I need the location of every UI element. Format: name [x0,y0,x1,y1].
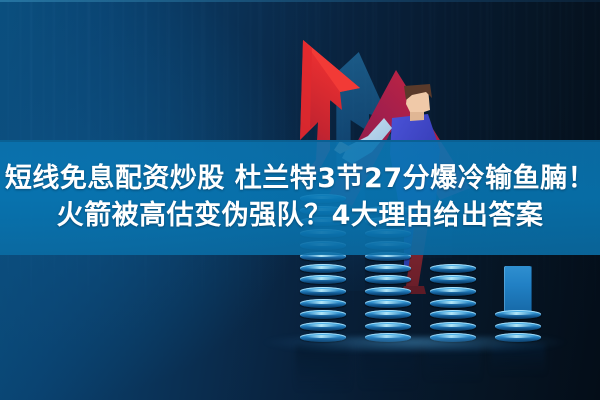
coin [430,275,476,284]
coin [300,264,346,273]
coin [300,299,346,308]
coin [430,287,476,296]
headline-band [0,140,600,255]
coin [300,310,346,319]
coin [365,310,411,319]
coin [430,310,476,319]
coin [365,275,411,284]
coin [430,299,476,308]
headline-band-top-edge [0,140,600,142]
coin [430,264,476,273]
floor-glow [255,336,575,352]
coin-stack-slab [504,266,532,314]
coin [300,275,346,284]
coin [495,322,541,331]
coin [430,322,476,331]
coin [300,322,346,331]
coin [365,299,411,308]
coin [365,287,411,296]
coin [300,287,346,296]
banner-image: 短线免息配资炒股 杜兰特3节27分爆冷输鱼腩！ 火箭被高估变伪强队？4大理由给出… [0,0,600,400]
coin [365,264,411,273]
coin [365,322,411,331]
coin [495,310,541,319]
person-neck [410,112,424,121]
